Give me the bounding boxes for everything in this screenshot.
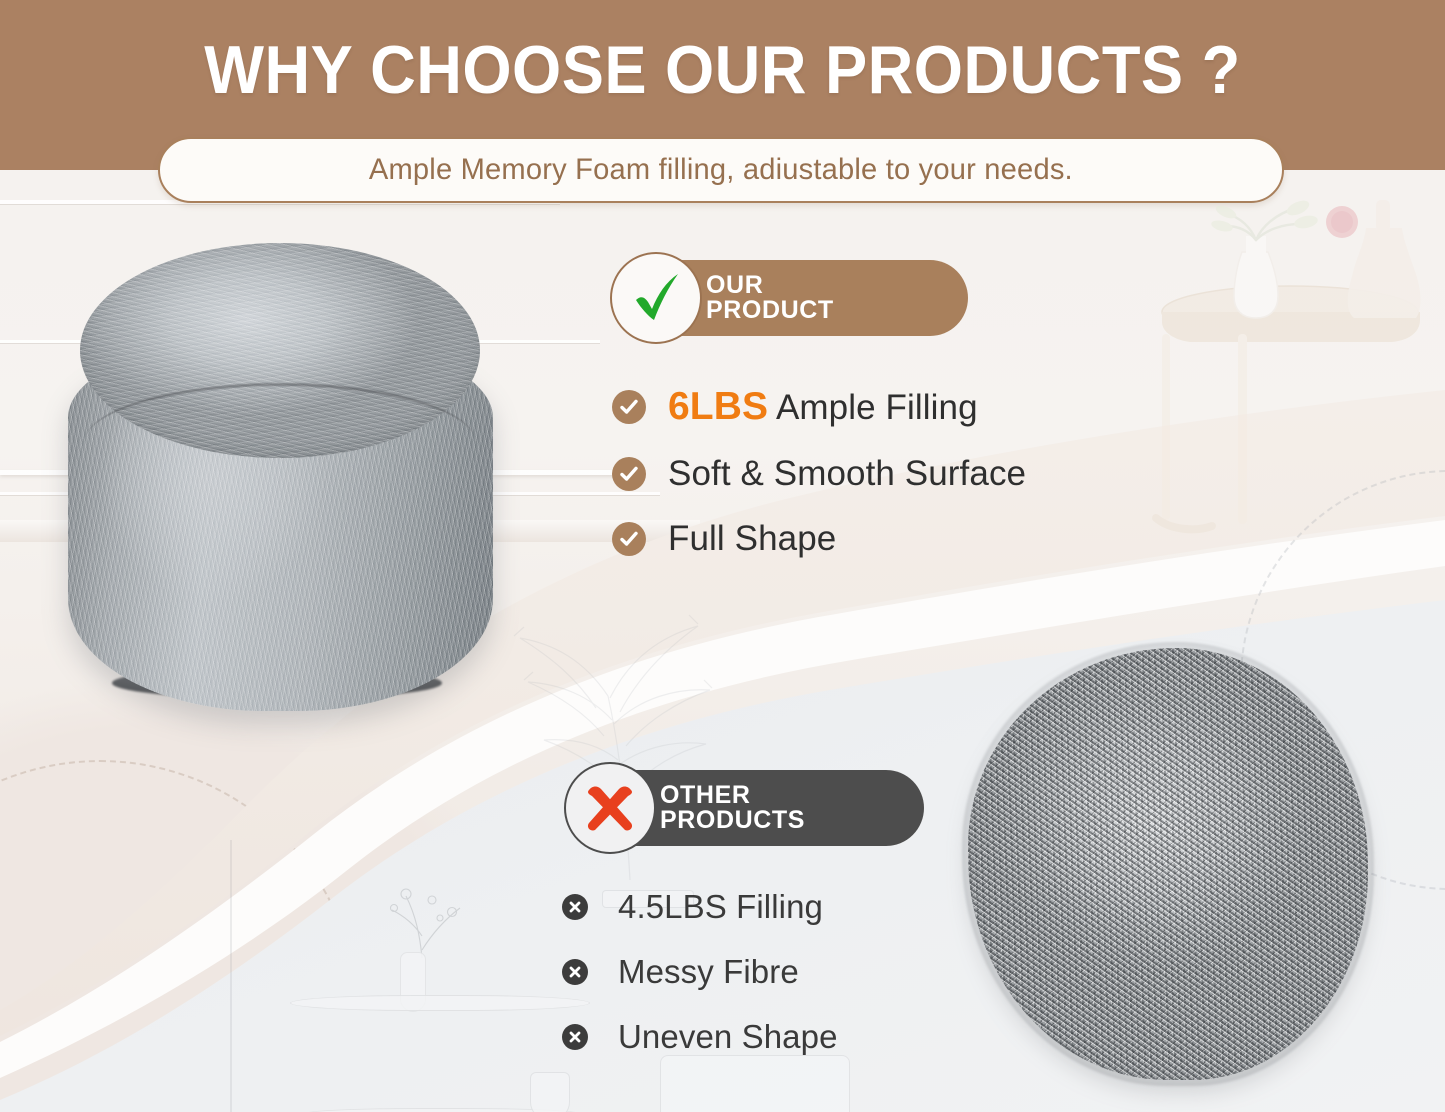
feature-text: Uneven Shape xyxy=(618,1018,838,1056)
faded-table-leg xyxy=(230,960,232,1080)
shaggy-edge-shading xyxy=(962,642,1374,1086)
other-products-feature-list: 4.5LBS Filling Messy Fibre Uneven Shape xyxy=(562,888,838,1083)
red-x-icon xyxy=(564,762,656,854)
other-products-badge-label: OTHER PRODUCTS xyxy=(660,783,805,834)
faded-table-leg xyxy=(230,840,232,960)
x-circle-icon xyxy=(562,1024,588,1050)
check-circle-icon xyxy=(612,522,646,556)
our-product-badge-label: OUR PRODUCT xyxy=(706,273,834,324)
feature-text: 4.5LBS Filling xyxy=(618,888,823,926)
infographic-canvas: WHY CHOOSE OUR PRODUCTS ? Ample Memory F… xyxy=(0,0,1445,1112)
green-check-icon xyxy=(610,252,702,344)
list-item: 6LBS Ample Filling xyxy=(612,385,1026,429)
feature-text: 6LBS Ample Filling xyxy=(668,385,978,429)
list-item: Messy Fibre xyxy=(562,953,838,991)
feature-text: Messy Fibre xyxy=(618,953,799,991)
faded-flower-branch-icon xyxy=(380,878,470,958)
other-product-image xyxy=(968,648,1368,1080)
feature-text: Soft & Smooth Surface xyxy=(668,454,1026,494)
feature-label: Ample Filling xyxy=(768,388,978,427)
check-circle-icon xyxy=(612,390,646,424)
list-item: Full Shape xyxy=(612,519,1026,559)
feature-text: Full Shape xyxy=(668,519,836,559)
list-item: Soft & Smooth Surface xyxy=(612,454,1026,494)
feature-accent: 6LBS xyxy=(668,385,768,428)
list-item: Uneven Shape xyxy=(562,1018,838,1056)
badge-line-1: OUR xyxy=(706,273,834,299)
pouf-seam xyxy=(84,383,476,503)
our-product-feature-list: 6LBS Ample Filling Soft & Smooth Surface… xyxy=(612,385,1026,584)
check-circle-icon xyxy=(612,457,646,491)
badge-line-2: PRODUCTS xyxy=(660,808,805,834)
subtitle-pill: Ample Memory Foam filling, adiustable to… xyxy=(158,137,1284,203)
x-circle-icon xyxy=(562,959,588,985)
badge-line-1: OTHER xyxy=(660,783,805,809)
x-circle-icon xyxy=(562,894,588,920)
faded-table-top xyxy=(290,995,590,1011)
our-product-image xyxy=(68,243,493,711)
other-products-badge: OTHER PRODUCTS xyxy=(572,770,924,846)
our-product-badge: OUR PRODUCT xyxy=(618,260,968,336)
list-item: 4.5LBS Filling xyxy=(562,888,838,926)
faded-side-table-with-vase xyxy=(1130,200,1440,580)
badge-line-2: PRODUCT xyxy=(706,298,834,324)
faded-chair-stem xyxy=(230,1080,232,1112)
page-title: WHY CHOOSE OUR PRODUCTS ? xyxy=(51,36,1395,104)
subtitle-text: Ample Memory Foam filling, adiustable to… xyxy=(369,153,1073,187)
